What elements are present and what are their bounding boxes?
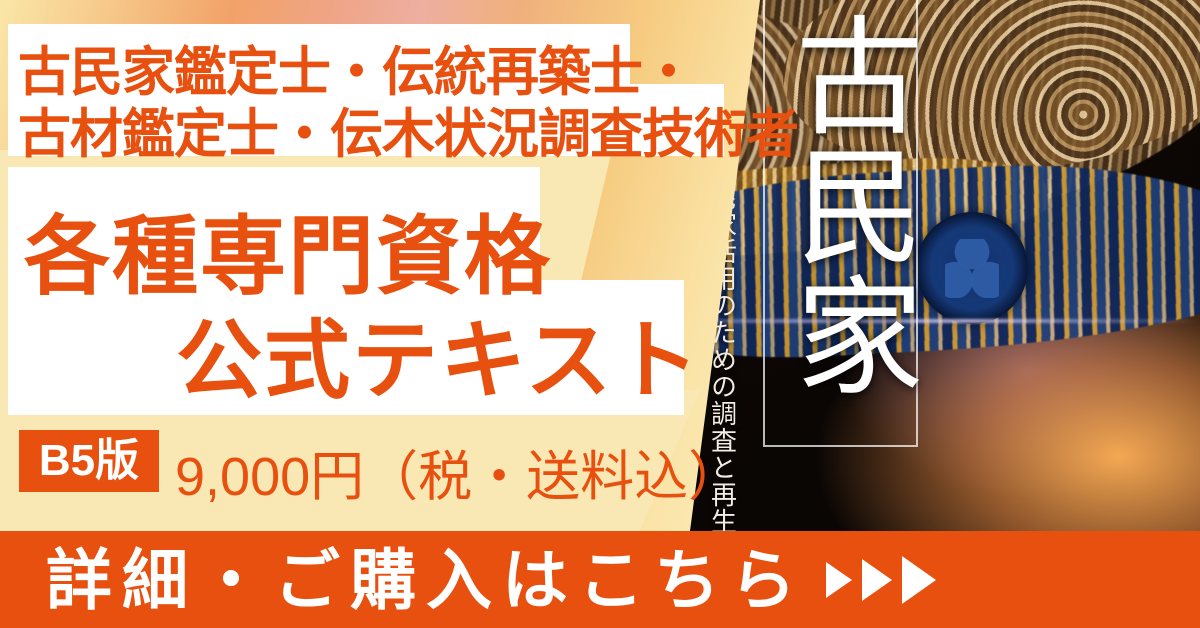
cover-title: 古民家 — [766, 10, 916, 440]
subhead-line2: 公式テキスト — [176, 290, 701, 415]
format-badge: B5版 — [19, 430, 159, 492]
triangle-right-icon-3 — [902, 556, 936, 604]
cta-label: 詳細・ご購入はこちら — [46, 547, 806, 613]
triangle-right-icon-2 — [862, 559, 892, 601]
price-text: 9,000円（税・送料込） — [175, 432, 742, 511]
cta-bar[interactable]: 詳細・ご購入はこちら — [0, 531, 1200, 628]
headline-line2: 古材鑑定士・伝木状況調査技術者 — [18, 92, 798, 168]
promo-banner: 伝統構法、古民家活用のための調査と再生の 古民家 古民家鑑定士・伝統再築士・ 古… — [0, 0, 1200, 628]
family-crest-medallion — [916, 212, 1028, 324]
triangle-right-icon-1 — [826, 562, 852, 598]
cta-arrow-group — [826, 556, 936, 604]
